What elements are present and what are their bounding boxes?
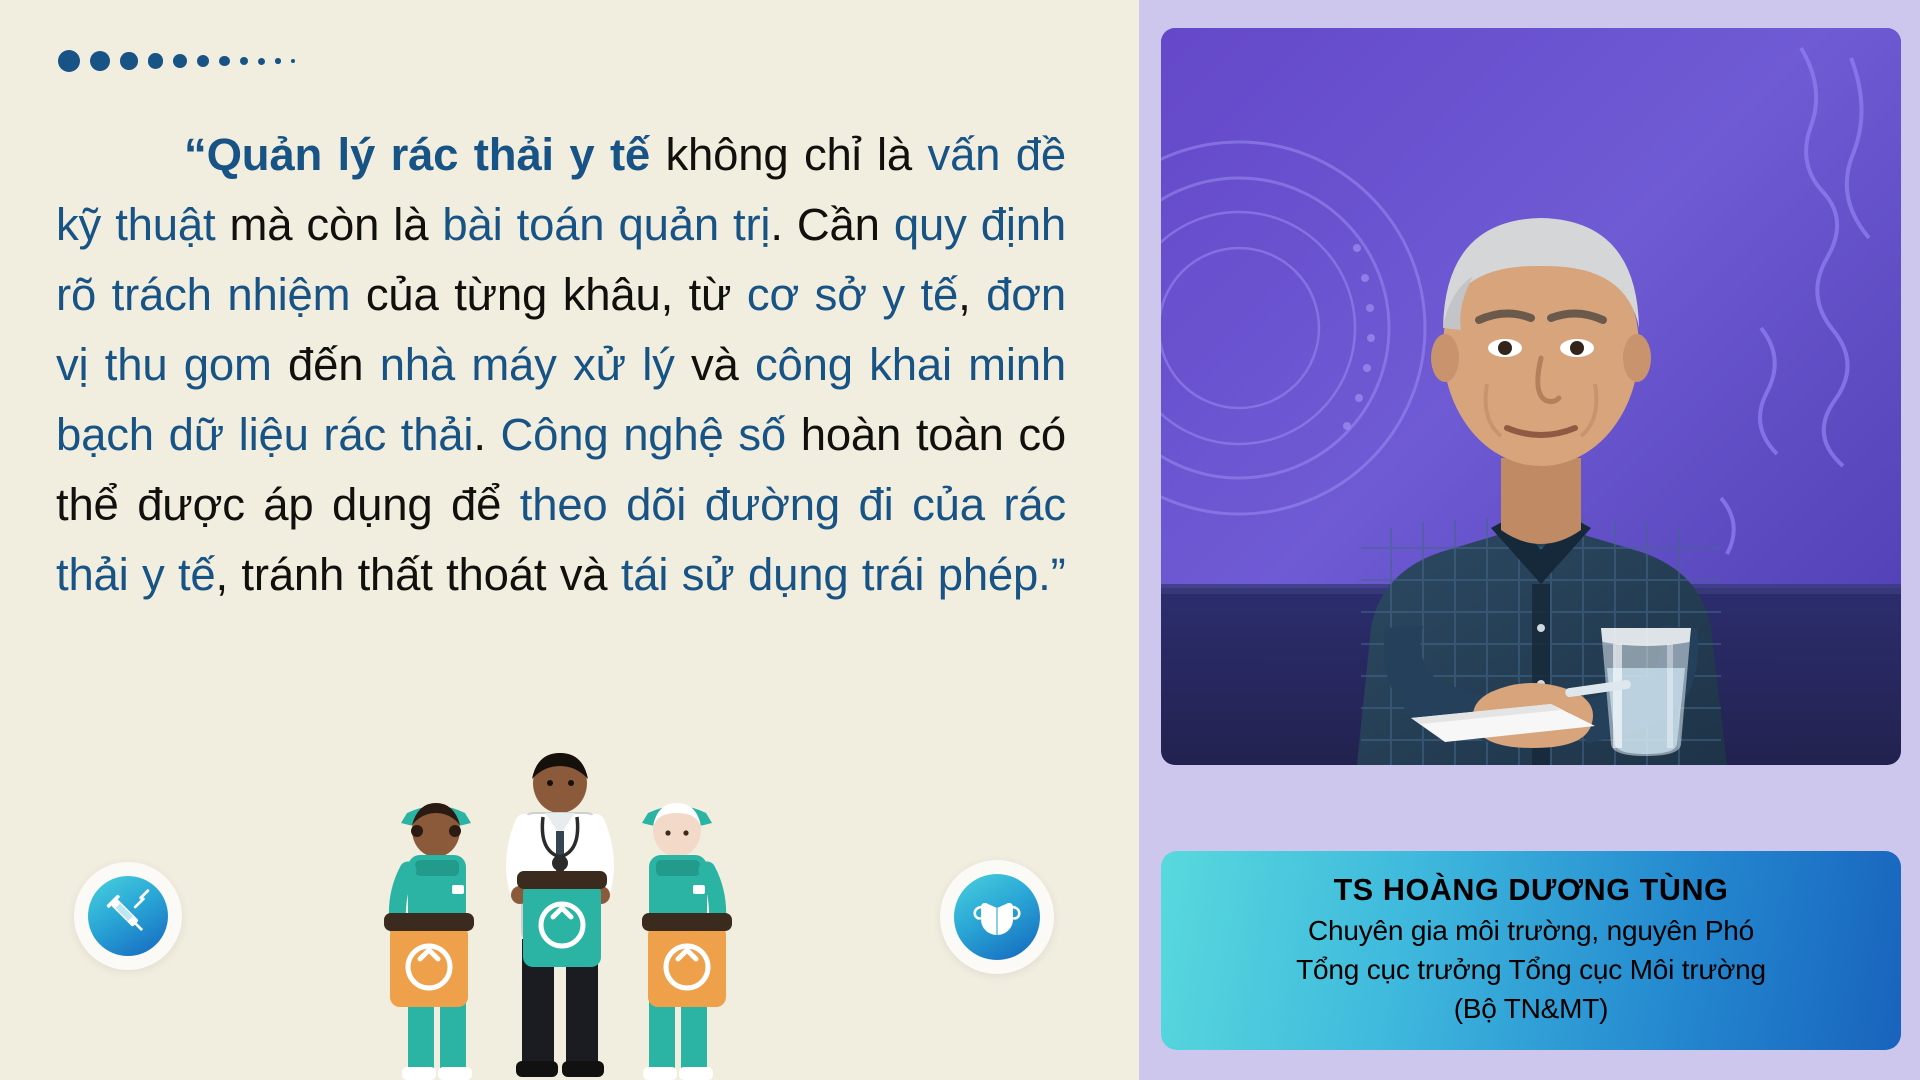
quote-seg13: và: [675, 339, 755, 390]
quote-seg4: bài toán quản trị: [442, 199, 770, 250]
quote-seg12: nhà máy xử lý: [380, 339, 675, 390]
left-panel: “Quản lý rác thải y tế không chỉ là vấn …: [0, 0, 1139, 1080]
decor-dot-3: [120, 52, 138, 70]
decor-dot-8: [240, 57, 249, 66]
waste-bin-right: [642, 913, 732, 1007]
medical-waste-illustration: [360, 735, 760, 1080]
speaker-photo: [1161, 28, 1901, 765]
waste-bin-left: [384, 913, 474, 1007]
decor-dot-7: [219, 56, 230, 67]
quote-open-mark: “: [184, 129, 207, 180]
quote-seg7: của từng khâu, từ: [350, 269, 747, 320]
decor-dot-1: [58, 50, 80, 72]
syringe-badge: [74, 862, 182, 970]
syringe-icon: [88, 876, 168, 956]
speaker-role-line-2: Tổng cục trưởng Tổng cục Môi trường: [1187, 950, 1875, 989]
face-mask-icon: [954, 874, 1040, 960]
quote-seg9: ,: [958, 269, 986, 320]
decor-dot-11: [291, 59, 295, 63]
right-panel: TS HOÀNG DƯƠNG TÙNG Chuyên gia môi trườn…: [1139, 0, 1920, 1080]
speaker-name-card: TS HOÀNG DƯƠNG TÙNG Chuyên gia môi trườn…: [1161, 851, 1901, 1050]
decor-dot-9: [258, 58, 265, 65]
decor-dot-10: [275, 58, 281, 64]
quote-lead-phrase: Quản lý rác thải y tế: [207, 129, 650, 180]
dot-sequence: [58, 48, 295, 74]
quote-seg3: mà còn là: [215, 199, 442, 250]
quote-seg11: đến: [272, 339, 380, 390]
waste-bin-center: [517, 871, 607, 967]
quote-seg20: tái sử dụng trái phép: [621, 549, 1038, 600]
decor-dot-4: [148, 53, 164, 69]
quote-seg16: Công nghệ số: [501, 409, 787, 460]
decor-dot-2: [90, 51, 110, 71]
speaker-org-line: (Bộ TN&MT): [1187, 989, 1875, 1028]
quote-seg8: cơ sở y tế: [747, 269, 958, 320]
quote-seg1: không chỉ là: [650, 129, 928, 180]
decor-dot-5: [173, 54, 187, 68]
speaker-role-line-1: Chuyên gia môi trường, nguyên Phó: [1187, 911, 1875, 950]
quote-text: “Quản lý rác thải y tế không chỉ là vấn …: [56, 120, 1066, 610]
speaker-name: TS HOÀNG DƯƠNG TÙNG: [1187, 869, 1875, 911]
infographic-quote-slide: “Quản lý rác thải y tế không chỉ là vấn …: [0, 0, 1920, 1080]
quote-seg5: . Cần: [770, 199, 894, 250]
quote-seg19: , tránh thất thoát và: [216, 549, 621, 600]
quote-seg15: .: [473, 409, 500, 460]
decor-dot-6: [197, 55, 209, 67]
quote-close-mark: .”: [1038, 549, 1065, 600]
mask-badge: [940, 860, 1054, 974]
